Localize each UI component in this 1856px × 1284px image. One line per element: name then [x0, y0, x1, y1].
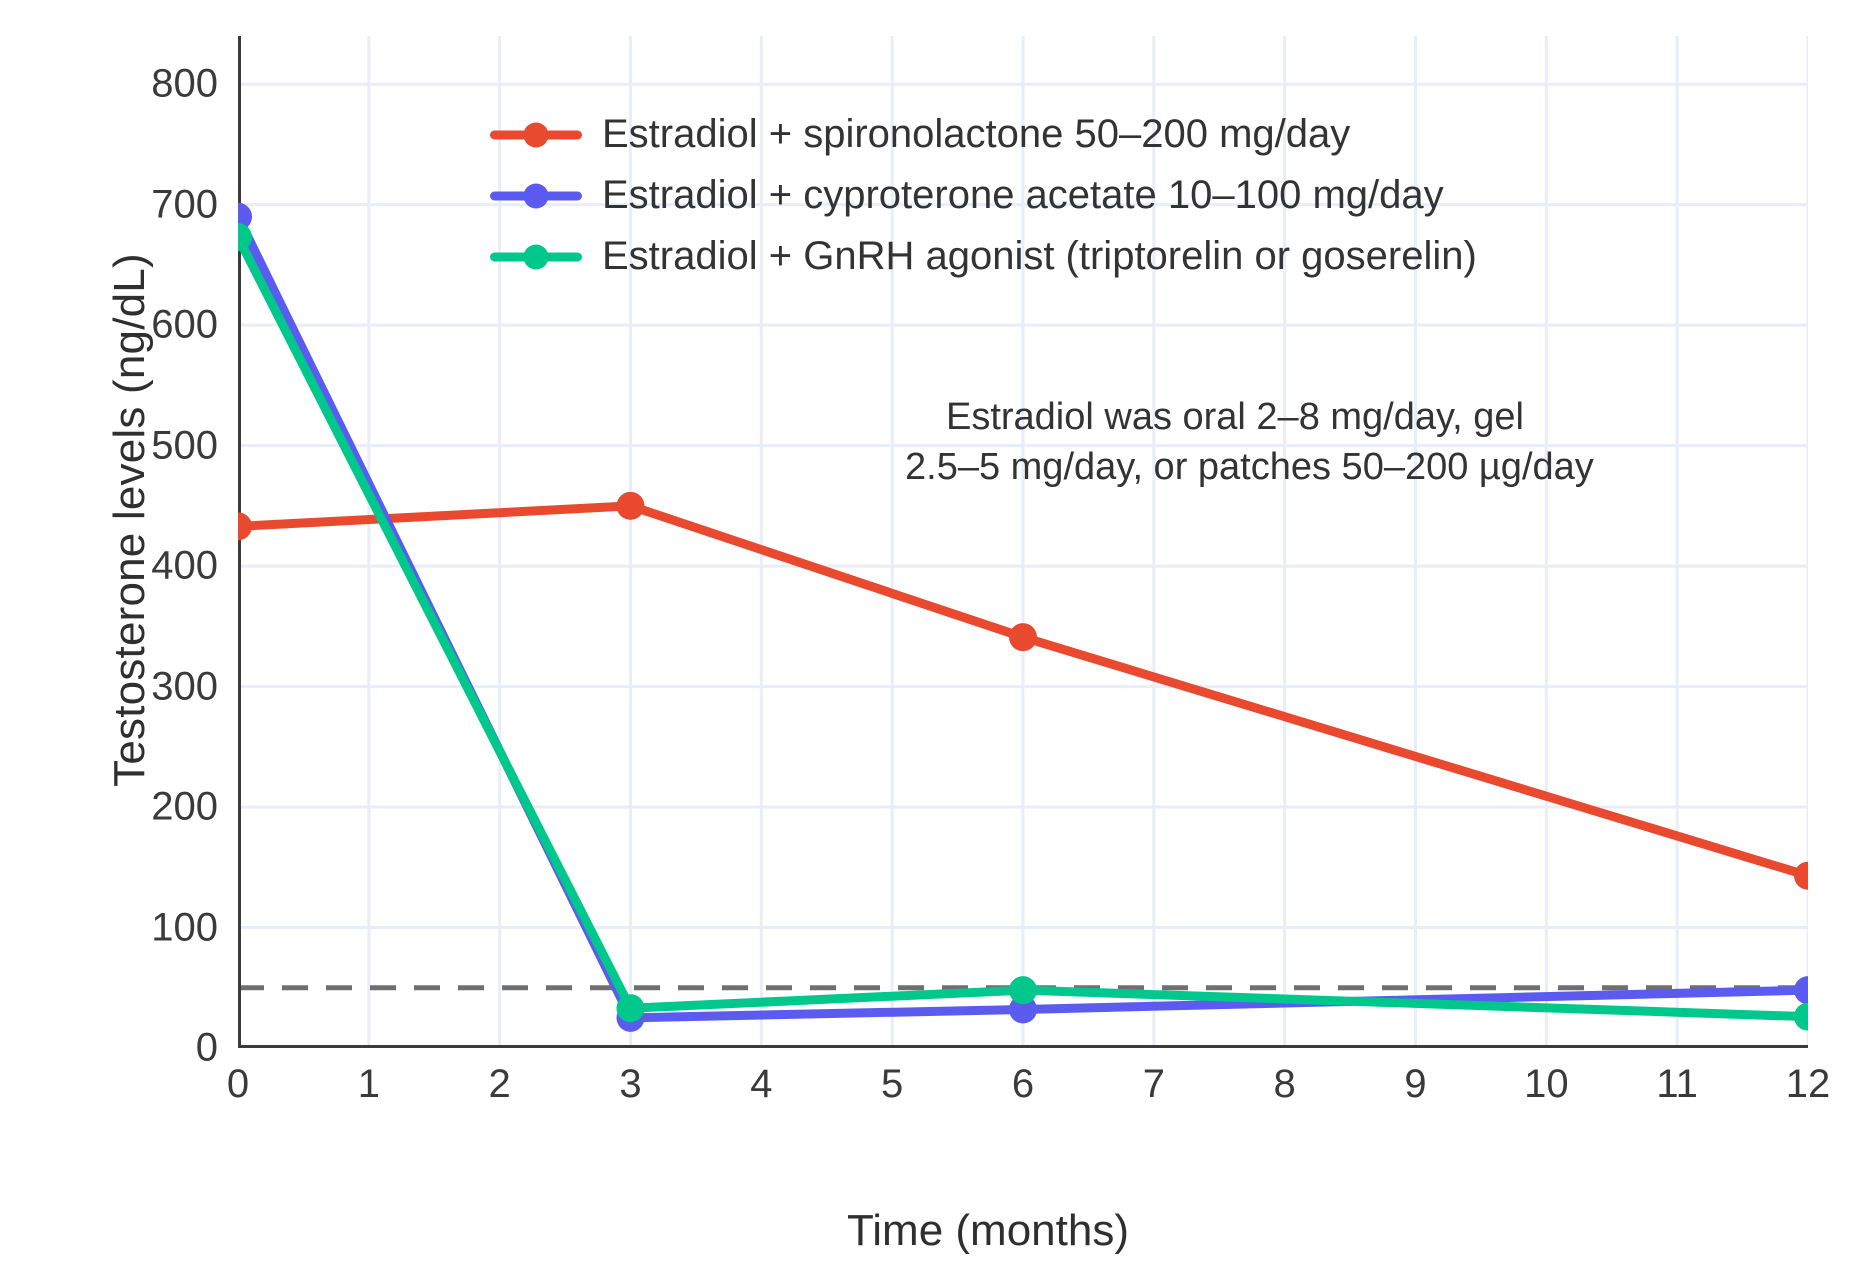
- legend-marker-icon: [490, 183, 582, 209]
- legend-marker-icon: [490, 122, 582, 148]
- legend-item[interactable]: Estradiol + cyproterone acetate 10–100 m…: [490, 173, 1477, 218]
- legend-marker-icon: [490, 244, 582, 270]
- x-axis-tick-label: 11: [1656, 1062, 1698, 1107]
- data-point-marker[interactable]: [617, 492, 645, 520]
- data-point-marker[interactable]: [238, 512, 252, 540]
- y-axis-tick-label: 600: [151, 303, 218, 348]
- x-axis-tick-label: 12: [1786, 1062, 1831, 1107]
- annotation-text: Estradiol was oral 2–8 mg/day, gel 2.5–5…: [905, 392, 1565, 492]
- y-axis-tick-label: 700: [151, 182, 218, 227]
- x-axis-tick-label: 9: [1404, 1062, 1426, 1107]
- x-axis-tick-label: 10: [1524, 1062, 1569, 1107]
- data-point-marker[interactable]: [1794, 862, 1808, 890]
- x-axis-tick-label: 0: [227, 1062, 249, 1107]
- legend-label: Estradiol + spironolactone 50–200 mg/day: [602, 112, 1350, 157]
- x-axis-tick-label: 8: [1274, 1062, 1296, 1107]
- x-axis-title-wrap: Time (months): [0, 1206, 1856, 1256]
- chart-container: Testosterone levels (ng/dL) 010020030040…: [0, 0, 1856, 1284]
- x-axis-tick-labels: 0123456789101112: [238, 1062, 1808, 1118]
- y-axis-tick-label: 200: [151, 785, 218, 830]
- legend-dot-swatch: [524, 244, 549, 269]
- y-axis-tick-label: 500: [151, 423, 218, 468]
- data-point-marker[interactable]: [1009, 623, 1037, 651]
- legend-label: Estradiol + GnRH agonist (triptorelin or…: [602, 234, 1477, 279]
- x-axis-tick-label: 1: [358, 1062, 380, 1107]
- legend-item[interactable]: Estradiol + GnRH agonist (triptorelin or…: [490, 234, 1477, 279]
- y-axis-tick-labels: 0100200300400500600700800: [100, 36, 218, 1048]
- data-point-marker[interactable]: [1009, 976, 1037, 1004]
- y-axis-tick-label: 300: [151, 664, 218, 709]
- legend-item[interactable]: Estradiol + spironolactone 50–200 mg/day: [490, 112, 1477, 157]
- legend: Estradiol + spironolactone 50–200 mg/day…: [490, 112, 1477, 279]
- x-axis-tick-label: 5: [881, 1062, 903, 1107]
- x-axis-tick-label: 4: [750, 1062, 772, 1107]
- annotation-line-1: Estradiol was oral 2–8 mg/day, gel: [905, 392, 1565, 442]
- y-axis-tick-label: 0: [196, 1026, 218, 1071]
- y-axis-tick-label: 800: [151, 62, 218, 107]
- legend-dot-swatch: [524, 122, 549, 147]
- x-axis-tick-label: 7: [1143, 1062, 1165, 1107]
- legend-dot-swatch: [524, 183, 549, 208]
- x-axis-tick-label: 2: [489, 1062, 511, 1107]
- x-axis-title: Time (months): [847, 1206, 1129, 1255]
- x-axis-tick-label: 3: [619, 1062, 641, 1107]
- annotation-line-2: 2.5–5 mg/day, or patches 50–200 µg/day: [905, 442, 1565, 492]
- y-axis-tick-label: 100: [151, 905, 218, 950]
- data-point-marker[interactable]: [1794, 1003, 1808, 1031]
- data-point-marker[interactable]: [1794, 976, 1808, 1004]
- data-point-marker[interactable]: [617, 994, 645, 1022]
- legend-label: Estradiol + cyproterone acetate 10–100 m…: [602, 173, 1444, 218]
- y-axis-tick-label: 400: [151, 544, 218, 589]
- x-axis-tick-label: 6: [1012, 1062, 1034, 1107]
